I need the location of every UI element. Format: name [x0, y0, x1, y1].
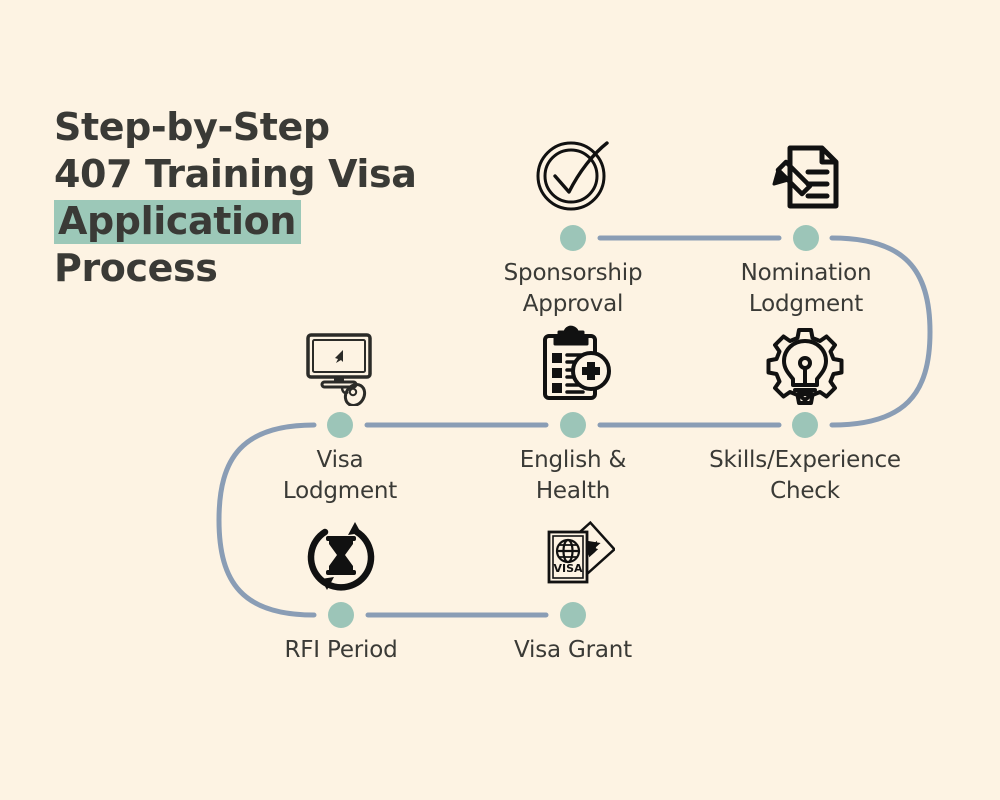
flow-label-line1: RFI Period — [226, 635, 456, 666]
flow-step-skills-experience-check[interactable]: Skills/Experience Check — [705, 320, 905, 540]
clipboard-medical-icon — [529, 320, 617, 408]
flow-step-sponsorship-approval[interactable]: Sponsorship Approval — [473, 130, 673, 350]
flow-dot-visa-grant — [560, 602, 586, 628]
flow-label-line2: Health — [458, 476, 688, 507]
flow-label-sponsorship-approval: Sponsorship Approval — [458, 258, 688, 320]
flow-step-rfi-period[interactable]: RFI Period — [241, 512, 441, 702]
lightbulb-gear-icon — [761, 320, 849, 408]
flow-label-line2: Check — [690, 476, 920, 507]
flow-step-english-health[interactable]: English & Health — [473, 320, 673, 540]
flow-label-line2: Lodgment — [225, 476, 455, 507]
flow-step-nomination-lodgment[interactable]: Nomination Lodgment — [706, 130, 906, 350]
hourglass-refresh-icon — [297, 512, 385, 600]
title-line-1: Step-by-Step — [54, 104, 474, 151]
flow-label-rfi-period: RFI Period — [226, 635, 456, 666]
flow-label-line1: Visa Grant — [458, 635, 688, 666]
flow-label-line1: Nomination — [691, 258, 921, 289]
infographic-canvas: Step-by-Step 407 Training Visa Applicati… — [0, 0, 1000, 800]
flow-label-line1: Sponsorship — [458, 258, 688, 289]
monitor-mouse-icon — [296, 320, 384, 408]
page-title: Step-by-Step 407 Training Visa Applicati… — [54, 104, 474, 292]
check-circle-icon — [529, 130, 617, 218]
flow-label-line2: Approval — [458, 289, 688, 320]
flow-dot-sponsorship-approval — [560, 225, 586, 251]
flow-dot-visa-lodgment — [327, 412, 353, 438]
title-line-4: Process — [54, 245, 474, 292]
flow-label-line1: Visa — [225, 445, 455, 476]
flow-dot-rfi-period — [328, 602, 354, 628]
flow-label-line1: Skills/Experience — [690, 445, 920, 476]
flow-dot-skills-experience-check — [792, 412, 818, 438]
flow-label-visa-grant: Visa Grant — [458, 635, 688, 666]
flow-step-visa-lodgment[interactable]: Visa Lodgment — [240, 320, 440, 540]
flow-step-visa-grant[interactable]: VISA Visa Grant — [473, 512, 673, 702]
passport-visa-icon: VISA — [529, 512, 617, 600]
flow-label-line2: Lodgment — [691, 289, 921, 320]
flow-dot-nomination-lodgment — [793, 225, 819, 251]
flow-label-skills-experience-check: Skills/Experience Check — [690, 445, 920, 507]
flow-label-nomination-lodgment: Nomination Lodgment — [691, 258, 921, 320]
passport-visa-text: VISA — [553, 562, 583, 575]
title-line-2: 407 Training Visa — [54, 151, 474, 198]
title-highlight: Application — [54, 200, 301, 244]
flow-label-visa-lodgment: Visa Lodgment — [225, 445, 455, 507]
flow-label-line1: English & — [458, 445, 688, 476]
title-line-3-highlighted: Application — [54, 198, 474, 245]
document-pencil-icon — [762, 130, 850, 218]
flow-dot-english-health — [560, 412, 586, 438]
flow-label-english-health: English & Health — [458, 445, 688, 507]
